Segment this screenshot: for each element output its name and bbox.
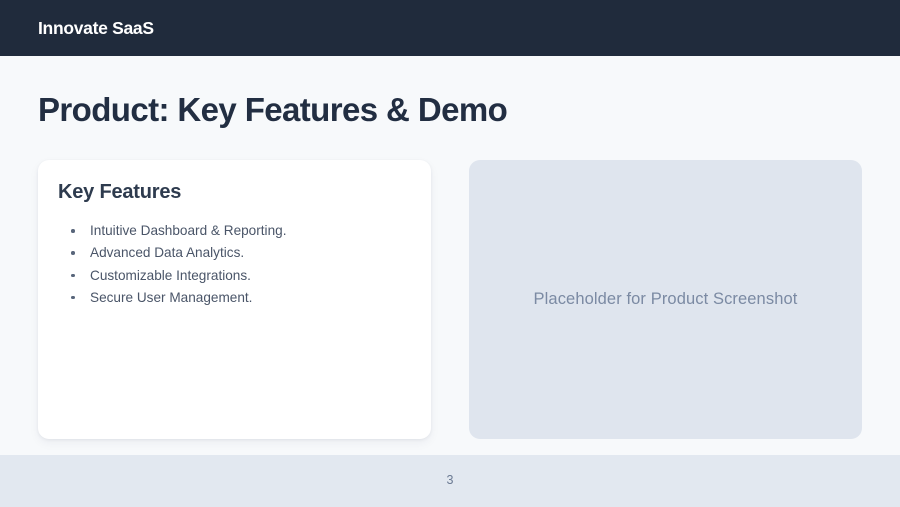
bullet-icon bbox=[71, 274, 75, 278]
list-item: Intuitive Dashboard & Reporting. bbox=[58, 220, 411, 242]
list-item: Secure User Management. bbox=[58, 287, 411, 309]
content-columns: Key Features Intuitive Dashboard & Repor… bbox=[38, 160, 862, 439]
list-item: Customizable Integrations. bbox=[58, 265, 411, 287]
slide-footer: 3 bbox=[0, 455, 900, 507]
slide: Innovate SaaS Product: Key Features & De… bbox=[0, 0, 900, 507]
placeholder-label: Placeholder for Product Screenshot bbox=[534, 290, 798, 309]
page-title: Product: Key Features & Demo bbox=[38, 88, 507, 132]
bullet-icon bbox=[71, 251, 75, 255]
card-heading: Key Features bbox=[58, 178, 411, 206]
product-screenshot-placeholder: Placeholder for Product Screenshot bbox=[469, 160, 862, 439]
page-number: 3 bbox=[447, 473, 454, 487]
feature-list: Intuitive Dashboard & Reporting. Advance… bbox=[58, 220, 411, 309]
list-item-label: Advanced Data Analytics. bbox=[90, 245, 244, 260]
list-item-label: Intuitive Dashboard & Reporting. bbox=[90, 223, 286, 238]
bullet-icon bbox=[71, 229, 75, 233]
slide-header-bar: Innovate SaaS bbox=[0, 0, 900, 56]
brand-name: Innovate SaaS bbox=[38, 18, 154, 39]
list-item-label: Customizable Integrations. bbox=[90, 268, 251, 283]
bullet-icon bbox=[71, 296, 75, 300]
list-item: Advanced Data Analytics. bbox=[58, 242, 411, 264]
key-features-card: Key Features Intuitive Dashboard & Repor… bbox=[38, 160, 431, 439]
list-item-label: Secure User Management. bbox=[90, 290, 252, 305]
